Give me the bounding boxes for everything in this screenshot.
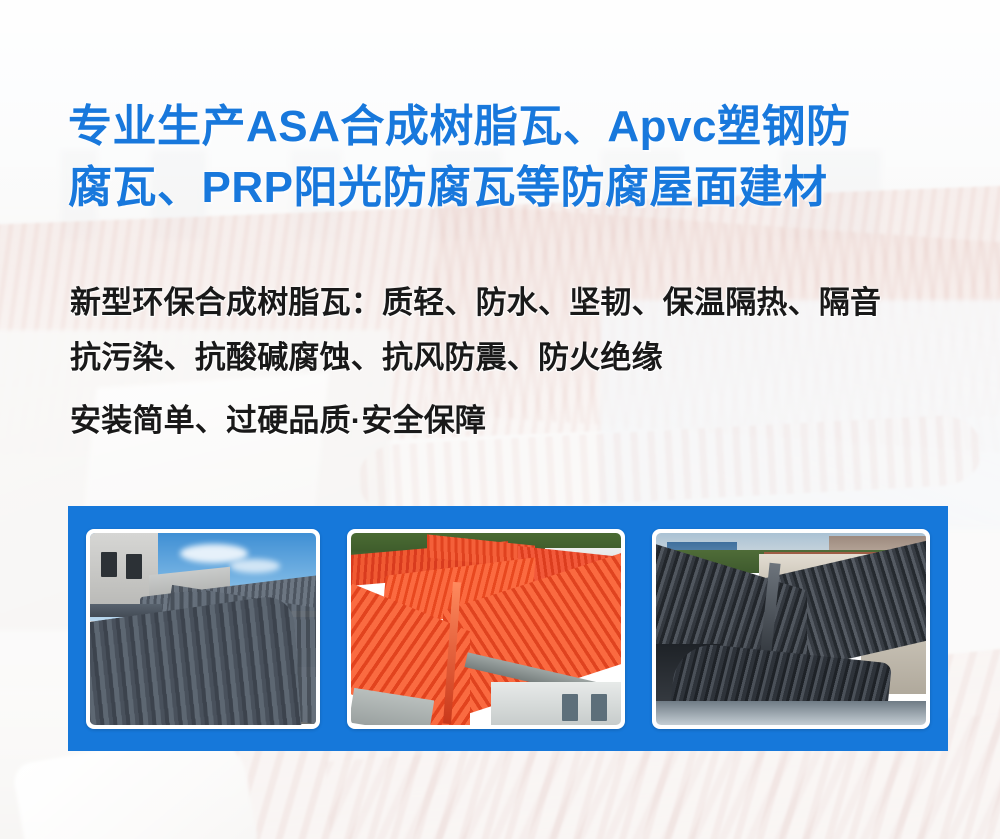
product-photo-black-roof-image — [656, 533, 926, 725]
subtitle-line-1: 新型环保合成树脂瓦：质轻、防水、坚韧、保温隔热、隔音 — [70, 275, 970, 330]
subtitle: 新型环保合成树脂瓦：质轻、防水、坚韧、保温隔热、隔音 抗污染、抗酸碱腐蚀、抗风防… — [70, 275, 970, 448]
product-photo-red-roof[interactable] — [347, 529, 625, 729]
subtitle-line-3: 安装简单、过硬品质·安全保障 — [70, 393, 970, 448]
headline: 专业生产ASA合成树脂瓦、Apvc塑钢防 腐瓦、PRP阳光防腐瓦等防腐屋面建材 — [68, 96, 968, 218]
product-photo-red-roof-image — [351, 533, 621, 725]
product-promo-banner: 专业生产ASA合成树脂瓦、Apvc塑钢防 腐瓦、PRP阳光防腐瓦等防腐屋面建材 … — [0, 0, 1000, 839]
headline-line-1: 专业生产ASA合成树脂瓦、Apvc塑钢防 — [68, 96, 968, 157]
product-gallery-panel — [68, 506, 948, 751]
photo1-cloud-secondary — [230, 559, 280, 572]
photo3-foreground-edge — [656, 701, 926, 724]
product-photo-black-roof[interactable] — [652, 529, 930, 729]
photo1-window — [101, 552, 117, 577]
photo2-window — [591, 694, 607, 721]
banner-content: 专业生产ASA合成树脂瓦、Apvc塑钢防 腐瓦、PRP阳光防腐瓦等防腐屋面建材 … — [0, 0, 1000, 839]
subtitle-line-2: 抗污染、抗酸碱腐蚀、抗风防震、防火绝缘 — [70, 330, 970, 385]
product-photo-charcoal-roof[interactable] — [86, 529, 320, 729]
photo2-window — [562, 694, 578, 721]
headline-line-2: 腐瓦、PRP阳光防腐瓦等防腐屋面建材 — [68, 157, 968, 218]
product-photo-charcoal-roof-image — [90, 533, 316, 725]
photo1-window — [126, 554, 142, 579]
